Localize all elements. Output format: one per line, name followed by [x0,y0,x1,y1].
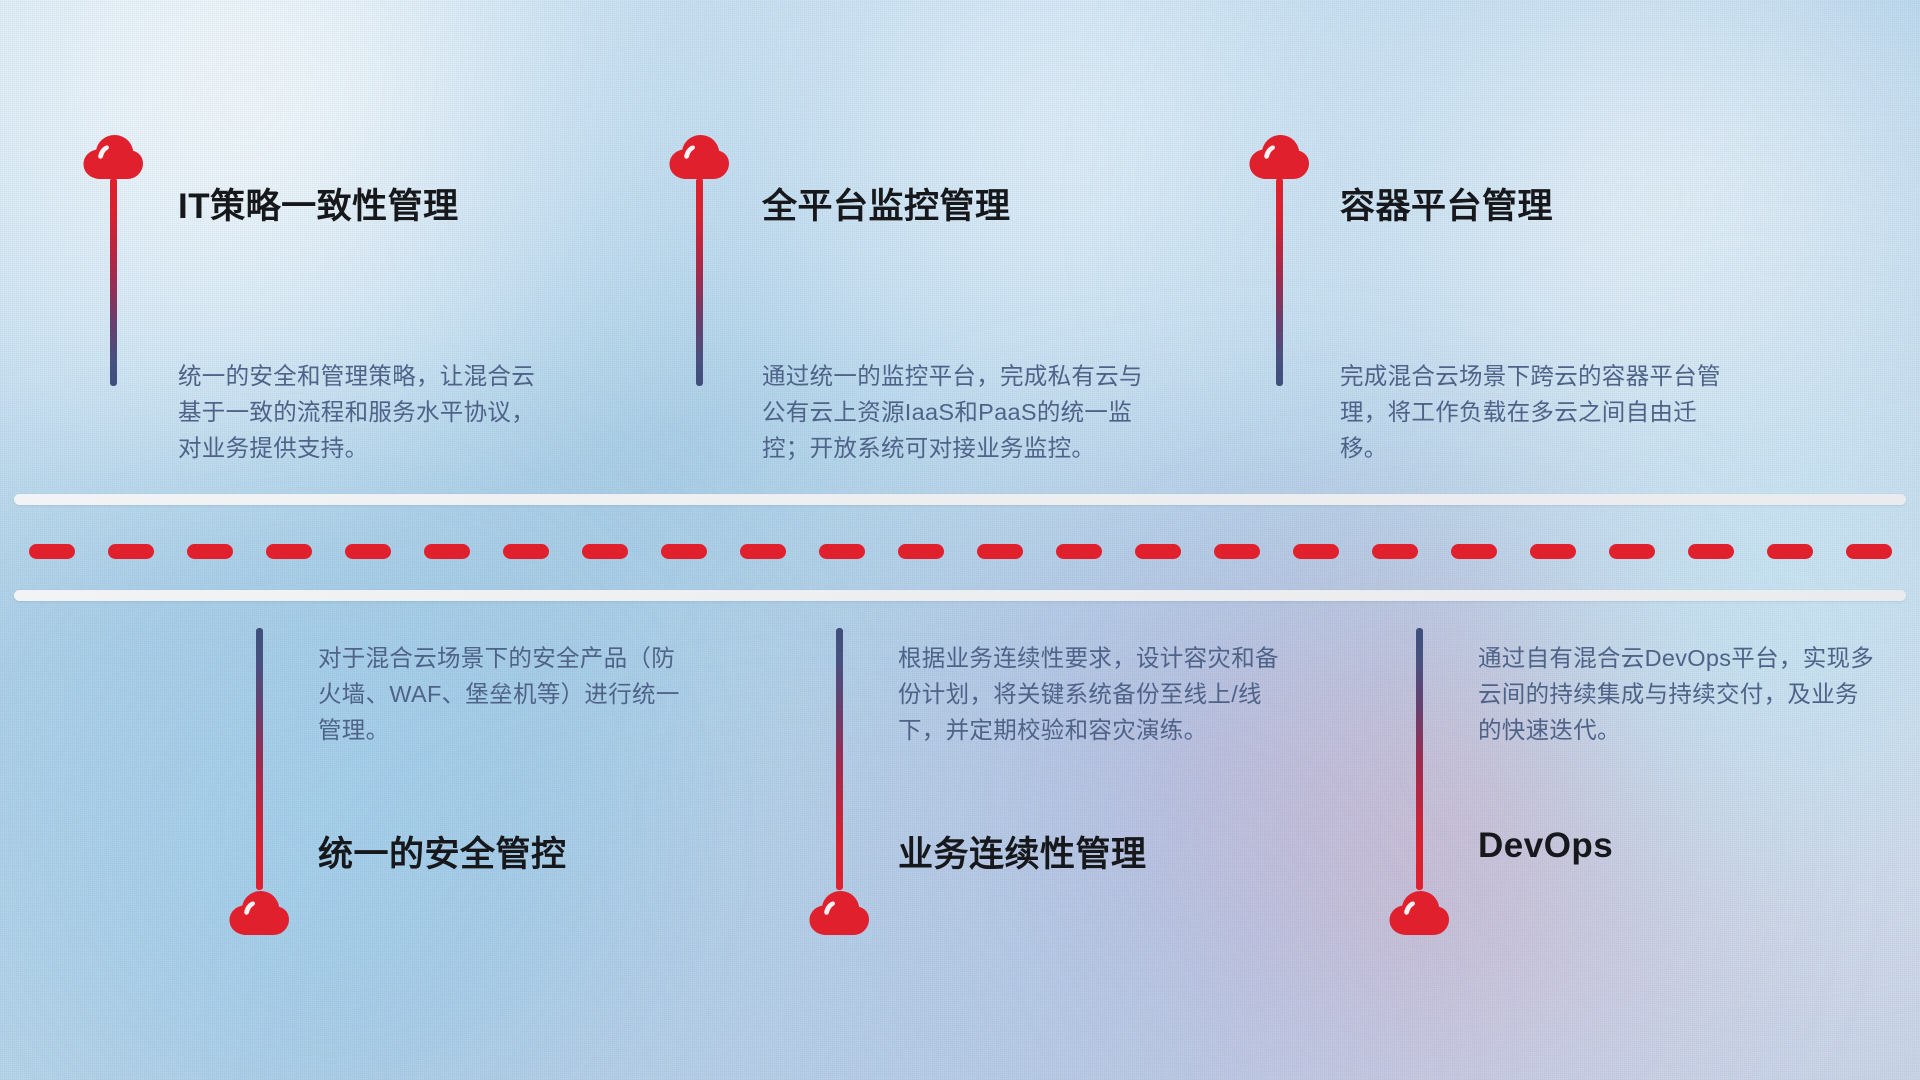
card-description: 统一的安全和管理策略，让混合云基于一致的流程和服务水平协议，对业务提供支持。 [178,358,548,466]
divider-dash [1767,544,1813,559]
card-title: 统一的安全管控 [318,826,567,877]
divider-dash [1609,544,1655,559]
divider-dash [661,544,707,559]
divider-dash [424,544,470,559]
connector-stem [836,628,843,890]
card-title: 容器平台管理 [1340,178,1553,229]
divider-dash [503,544,549,559]
divider-dash [1451,544,1497,559]
divider-dash [977,544,1023,559]
divider-dash [1135,544,1181,559]
connector-stem [1416,628,1423,890]
divider-dash [1214,544,1260,559]
cloud-icon [82,132,144,180]
card-description: 完成混合云场景下跨云的容器平台管理，将工作负载在多云之间自由迁移。 [1340,358,1740,466]
connector-stem [256,628,263,890]
top-white-rail [14,494,1906,505]
infographic-canvas: IT策略一致性管理 统一的安全和管理策略，让混合云基于一致的流程和服务水平协议，… [0,0,1920,1080]
divider-dash [582,544,628,559]
divider-dash [1688,544,1734,559]
divider-dash [345,544,391,559]
card-description: 根据业务连续性要求，设计容灾和备份计划，将关键系统备份至线上/线下，并定期校验和… [898,640,1298,748]
cloud-icon [668,132,730,180]
divider-dash [1846,544,1892,559]
divider-dash [266,544,312,559]
divider-dash [1056,544,1102,559]
divider-dash [1293,544,1339,559]
card-title: DevOps [1478,826,1613,866]
card-description: 通过统一的监控平台，完成私有云与公有云上资源IaaS和PaaS的统一监控；开放系… [762,358,1162,466]
divider-dash [740,544,786,559]
bottom-white-rail [14,590,1906,601]
divider-dash [29,544,75,559]
red-dashed-divider [0,544,1920,559]
cloud-icon [808,888,870,936]
cloud-icon [1388,888,1450,936]
divider-dash [819,544,865,559]
divider-dash [1372,544,1418,559]
cloud-icon [1248,132,1310,180]
connector-stem [696,178,703,386]
card-title: 业务连续性管理 [898,826,1147,877]
divider-dash [1530,544,1576,559]
connector-stem [1276,178,1283,386]
card-title: 全平台监控管理 [762,178,1011,229]
card-description: 对于混合云场景下的安全产品（防火墙、WAF、堡垒机等）进行统一管理。 [318,640,688,748]
cloud-icon [228,888,290,936]
card-title: IT策略一致性管理 [178,178,459,229]
divider-dash [108,544,154,559]
card-description: 通过自有混合云DevOps平台，实现多云间的持续集成与持续交付，及业务的快速迭代… [1478,640,1878,748]
connector-stem [110,178,117,386]
divider-dash [898,544,944,559]
divider-dash [187,544,233,559]
